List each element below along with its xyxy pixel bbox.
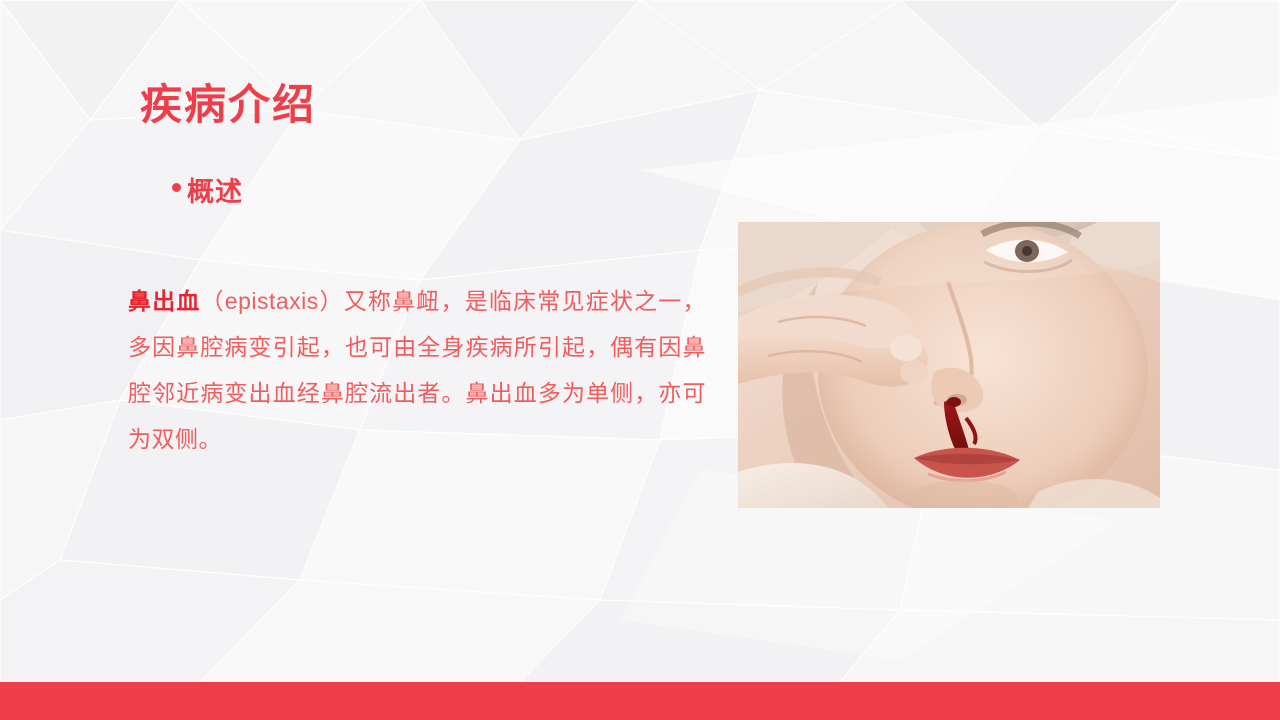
page-title: 疾病介绍	[140, 82, 316, 128]
slide: 疾病介绍 概述 鼻出血（epistaxis）又称鼻衄，是临床常见症状之一，多因鼻…	[0, 0, 1280, 720]
section-subtitle: 概述	[187, 170, 243, 209]
footer-accent-bar	[0, 682, 1280, 720]
nosebleed-photo	[738, 222, 1160, 508]
body-rest-text: （epistaxis）又称鼻衄，是临床常见症状之一，多因鼻腔病变引起，也可由全身…	[128, 288, 706, 452]
body-lead-term: 鼻出血	[128, 288, 201, 314]
nosebleed-photo-graphic	[738, 222, 1160, 508]
body-paragraph: 鼻出血（epistaxis）又称鼻衄，是临床常见症状之一，多因鼻腔病变引起，也可…	[128, 278, 706, 462]
subtitle-row: 概述	[172, 170, 243, 209]
slide-content: 疾病介绍 概述 鼻出血（epistaxis）又称鼻衄，是临床常见症状之一，多因鼻…	[0, 0, 1280, 720]
bullet-dot-icon	[172, 183, 181, 192]
